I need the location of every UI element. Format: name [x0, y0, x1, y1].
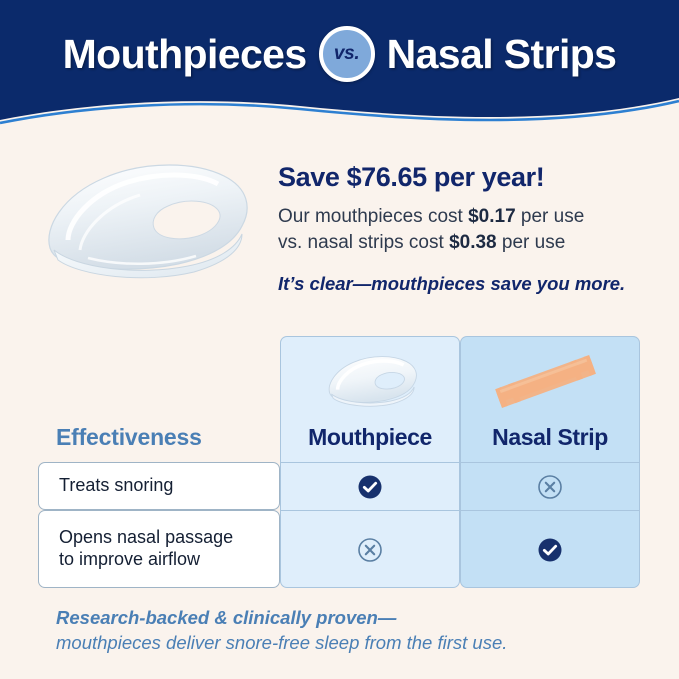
row-label-opens-nasal-passage: Opens nasal passage to improve airflow: [38, 510, 280, 588]
table-row: Treats snoring: [38, 462, 640, 510]
column-header-mouthpiece: Mouthpiece: [280, 424, 460, 451]
row-label-line-2: to improve airflow: [59, 549, 233, 571]
cell-mouthpiece-treats-snoring: [280, 462, 460, 510]
vs-badge-icon: vs.: [319, 26, 375, 82]
infographic-page: Mouthpieces vs. Nasal Strips: [0, 0, 679, 679]
table-header: Effectiveness: [38, 336, 640, 462]
cost-line-1-text-a: Our mouthpieces cost: [278, 206, 468, 227]
cost-comparison-block: Our mouthpieces cost $0.17 per use vs. n…: [278, 204, 668, 256]
hero-section: Save $76.65 per year! Our mouthpieces co…: [0, 140, 679, 325]
cost-line-2-text-b: per use: [497, 232, 566, 253]
check-circle-icon: [537, 537, 563, 563]
cost-line-1-value: $0.17: [468, 206, 516, 227]
savings-amount: $76.65: [347, 162, 427, 192]
cost-line-2-value: $0.38: [449, 232, 497, 253]
column-header-nasal-strip: Nasal Strip: [460, 424, 640, 451]
nasal-strip-icon: [460, 344, 640, 420]
cell-nasal-strip-treats-snoring: [460, 462, 640, 510]
x-circle-icon: [537, 474, 563, 500]
cell-mouthpiece-opens-nasal-passage: [280, 510, 460, 588]
row-label-line-1: Opens nasal passage: [59, 527, 233, 549]
cost-line-mouthpiece: Our mouthpieces cost $0.17 per use: [278, 204, 668, 230]
check-circle-icon: [357, 474, 383, 500]
footer-line-1: Research-backed & clinically proven—: [56, 606, 656, 631]
x-circle-icon: [357, 537, 383, 563]
table-row: Opens nasal passage to improve airflow: [38, 510, 640, 588]
footer-line-2: mouthpieces deliver snore-free sleep fro…: [56, 631, 656, 656]
header-title-left: Mouthpieces: [63, 34, 307, 75]
savings-headline: Save $76.65 per year!: [278, 162, 668, 193]
mouthpiece-product-photo: [28, 150, 266, 300]
comparison-table: Effectiveness: [38, 336, 640, 588]
hero-text-block: Save $76.65 per year! Our mouthpieces co…: [278, 162, 668, 295]
cost-line-nasal-strip: vs. nasal strips cost $0.38 per use: [278, 230, 668, 256]
row-label-treats-snoring: Treats snoring: [38, 462, 280, 510]
footer-note: Research-backed & clinically proven— mou…: [56, 606, 656, 655]
header-title-row: Mouthpieces vs. Nasal Strips: [0, 0, 679, 108]
savings-suffix: per year!: [427, 162, 545, 192]
header-banner: Mouthpieces vs. Nasal Strips: [0, 0, 679, 132]
savings-prefix: Save: [278, 162, 347, 192]
header-title-right: Nasal Strips: [387, 34, 617, 75]
mouthpiece-icon: [280, 344, 460, 420]
cost-line-1-text-b: per use: [516, 206, 585, 227]
cell-nasal-strip-opens-nasal-passage: [460, 510, 640, 588]
table-row-header-label: Effectiveness: [56, 424, 202, 451]
cost-line-2-text-a: vs. nasal strips cost: [278, 232, 449, 253]
vs-badge-label: vs.: [334, 43, 360, 65]
conclusion-line: It’s clear—mouthpieces save you more.: [278, 273, 668, 295]
